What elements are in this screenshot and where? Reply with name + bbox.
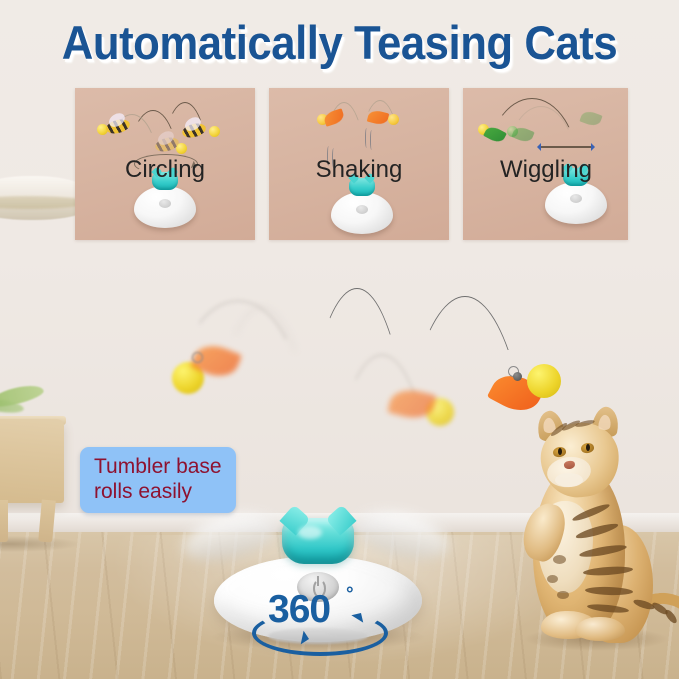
vibration-lines-icon xyxy=(370,130,374,150)
mini-power-button xyxy=(570,194,582,203)
mini-power-button xyxy=(356,205,368,214)
toy-ball-right xyxy=(527,364,561,398)
wooden-side-cabinet xyxy=(0,419,64,503)
mini-power-button xyxy=(159,199,171,208)
cat-pupil-right xyxy=(586,444,590,451)
cat-front-paw xyxy=(575,617,625,641)
mode-label-shaking: Shaking xyxy=(269,156,449,184)
vibration-lines-icon xyxy=(365,128,369,148)
toy-ball-icon xyxy=(388,114,399,125)
device-cap-highlight xyxy=(298,526,322,539)
toy-feather-icon xyxy=(579,109,602,128)
page-title: Automatically Teasing Cats xyxy=(24,14,655,72)
device-teal-cap xyxy=(282,518,354,564)
degree-symbol: ° xyxy=(346,584,354,606)
toy-ball-icon xyxy=(209,126,220,137)
mode-label-wiggling: Wiggling xyxy=(456,156,636,184)
mini-base xyxy=(545,182,607,224)
motion-blur-ghost xyxy=(179,506,282,569)
rotation-badge-value: 360 xyxy=(268,588,330,632)
cabinet-leg xyxy=(0,500,8,542)
rotation-badge: 360 ° xyxy=(246,588,386,646)
tumbler-base-callout: Tumbler base rolls easily xyxy=(80,447,236,513)
cat-pupil-left xyxy=(558,448,562,455)
bell-icon xyxy=(192,352,203,363)
mode-label-circling: Circling xyxy=(75,156,255,184)
motion-blur-ghost xyxy=(351,504,454,567)
bell-icon xyxy=(513,372,522,381)
cat-chin xyxy=(555,473,583,487)
bengal-cat xyxy=(505,405,679,675)
left-right-arrow-icon xyxy=(539,146,593,148)
circular-arrow-head-left-icon xyxy=(301,631,318,648)
product-image-canvas: Automatically Teasing Cats xyxy=(0,0,679,679)
